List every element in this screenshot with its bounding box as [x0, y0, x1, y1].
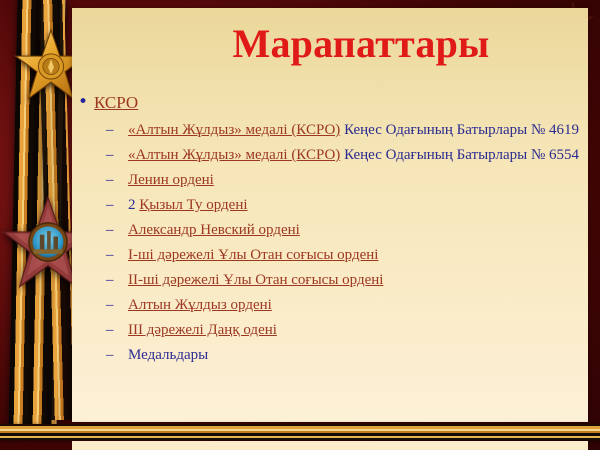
- dash-icon: –: [106, 294, 128, 316]
- dash-icon: –: [106, 269, 128, 291]
- award-link[interactable]: III дәрежелі Даңқ одені: [128, 322, 277, 338]
- dash-icon: –: [106, 194, 128, 216]
- list-item-text: КСРО: [94, 92, 138, 113]
- list-item-text: II-ші дәрежелі Ұлы Отан соғысы ордені: [128, 269, 383, 291]
- award-text: Медальдары: [128, 347, 208, 363]
- list-item-level2: –II-ші дәрежелі Ұлы Отан соғысы ордені: [72, 269, 588, 291]
- award-link[interactable]: I-ші дәрежелі Ұлы Отан соғысы ордені: [128, 247, 378, 263]
- award-text: Кеңес Одағының Батырлары № 4619: [340, 122, 579, 138]
- award-link[interactable]: Александр Невский ордені: [128, 222, 300, 238]
- dash-icon: –: [106, 144, 128, 166]
- list-item-level1: •КСРО: [72, 92, 588, 113]
- list-item-text: 2 Қызыл Ту ордені: [128, 194, 248, 216]
- list-item-text: «Алтын Жұлдыз» медалі (КСРО) Кеңес Одағы…: [128, 144, 579, 166]
- slide-content-panel: Марапаттары •КСРО–«Алтын Жұлдыз» медалі …: [72, 8, 588, 422]
- list-item-level2: –Александр Невский ордені: [72, 219, 588, 241]
- dash-icon: –: [106, 319, 128, 341]
- bullet-icon: •: [72, 92, 94, 113]
- award-text: Кеңес Одағының Батырлары № 6554: [340, 147, 579, 163]
- list-item-level2: –«Алтын Жұлдыз» медалі (КСРО) Кеңес Одағ…: [72, 144, 588, 166]
- list-item-level2: –2 Қызыл Ту ордені: [72, 194, 588, 216]
- award-text: 2: [128, 197, 139, 213]
- award-link[interactable]: КСРО: [94, 93, 138, 112]
- list-item-text: «Алтын Жұлдыз» медалі (КСРО) Кеңес Одағы…: [128, 119, 579, 141]
- dash-icon: –: [106, 169, 128, 191]
- dash-icon: –: [106, 219, 128, 241]
- award-link[interactable]: Қызыл Ту ордені: [139, 197, 247, 213]
- award-link[interactable]: Ленин ордені: [128, 172, 214, 188]
- list-item-level2: –III дәрежелі Даңқ одені: [72, 319, 588, 341]
- list-item-level2: –Медальдары: [72, 344, 588, 366]
- award-link[interactable]: «Алтын Жұлдыз» медалі (КСРО): [128, 122, 340, 138]
- award-link[interactable]: «Алтын Жұлдыз» медалі (КСРО): [128, 147, 340, 163]
- list-item-text: Ленин ордені: [128, 169, 214, 191]
- list-item-level2: –Ленин ордені: [72, 169, 588, 191]
- dash-icon: –: [106, 244, 128, 266]
- slide-title: Марапаттары: [72, 24, 588, 64]
- presentation-slide: Марапаттары •КСРО–«Алтын Жұлдыз» медалі …: [0, 0, 600, 450]
- award-link[interactable]: Алтын Жұлдыз ордені: [128, 297, 272, 313]
- list-item-text: Медальдары: [128, 344, 208, 366]
- list-item-level2: –«Алтын Жұлдыз» медалі (КСРО) Кеңес Одағ…: [72, 119, 588, 141]
- list-item-level2: –Алтын Жұлдыз ордені: [72, 294, 588, 316]
- award-link[interactable]: II-ші дәрежелі Ұлы Отан соғысы ордені: [128, 272, 383, 288]
- dash-icon: –: [106, 119, 128, 141]
- bottom-cream-strip: [72, 441, 588, 450]
- awards-list: •КСРО–«Алтын Жұлдыз» медалі (КСРО) Кеңес…: [72, 92, 588, 369]
- list-item-text: Алтын Жұлдыз ордені: [128, 294, 272, 316]
- list-item-text: Александр Невский ордені: [128, 219, 300, 241]
- list-item-text: III дәрежелі Даңқ одені: [128, 319, 277, 341]
- dash-icon: –: [106, 344, 128, 366]
- list-item-text: I-ші дәрежелі Ұлы Отан соғысы ордені: [128, 244, 378, 266]
- st-george-ribbon-horizontal: [0, 424, 600, 440]
- list-item-level2: –I-ші дәрежелі Ұлы Отан соғысы ордені: [72, 244, 588, 266]
